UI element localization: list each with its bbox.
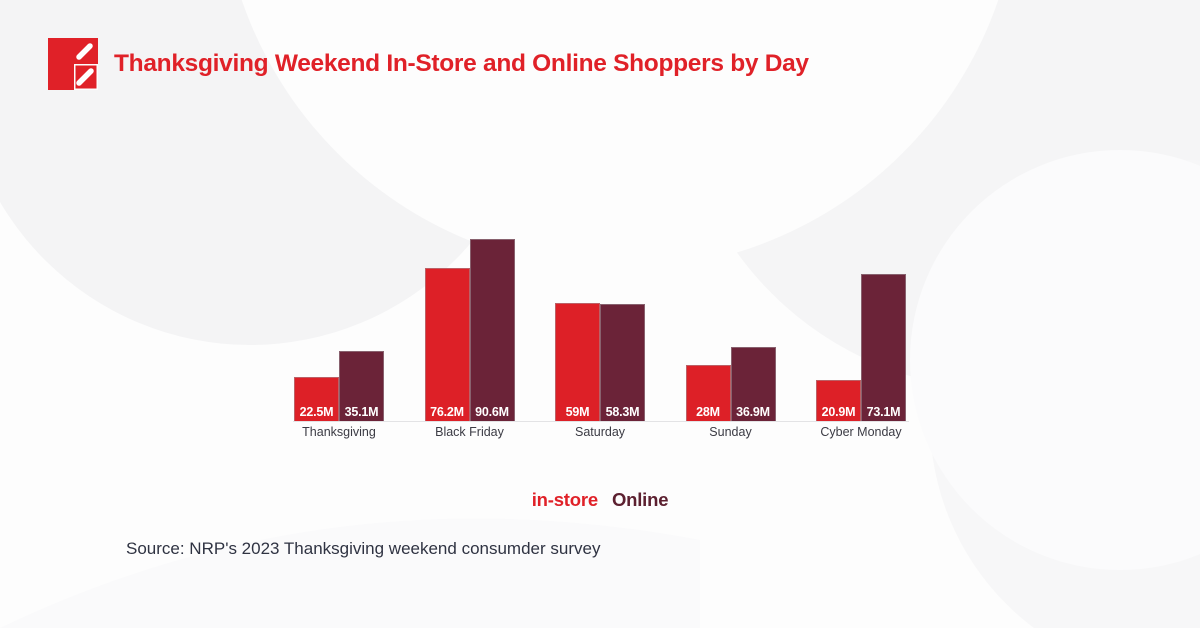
bar-group: 59M58.3M xyxy=(554,230,646,422)
legend-item-online[interactable]: Online xyxy=(612,489,668,511)
x-axis-label: Sunday xyxy=(685,425,777,439)
bar-in-store[interactable]: 22.5M xyxy=(294,377,339,422)
bar-value-label: 90.6M xyxy=(471,405,514,419)
x-axis-label: Cyber Monday xyxy=(815,425,907,439)
bar-group: 20.9M73.1M xyxy=(815,230,907,422)
pen-square-logo-icon xyxy=(48,38,98,90)
bar-value-label: 73.1M xyxy=(862,405,905,419)
bar-value-label: 28M xyxy=(687,405,730,419)
bar-group: 28M36.9M xyxy=(685,230,777,422)
bar-value-label: 59M xyxy=(556,405,599,419)
bar-in-store[interactable]: 59M xyxy=(555,303,600,422)
bar-online[interactable]: 58.3M xyxy=(600,304,645,422)
bar-online[interactable]: 36.9M xyxy=(731,347,776,422)
bar-value-label: 22.5M xyxy=(295,405,338,419)
x-axis-label: Saturday xyxy=(554,425,646,439)
source-note: Source: NRP's 2023 Thanksgiving weekend … xyxy=(126,539,600,559)
x-axis-label: Thanksgiving xyxy=(293,425,385,439)
header: Thanksgiving Weekend In-Store and Online… xyxy=(48,38,809,90)
bar-in-store[interactable]: 28M xyxy=(686,365,731,422)
bar-group: 22.5M35.1M xyxy=(293,230,385,422)
legend-item-in-store[interactable]: in-store xyxy=(532,489,598,511)
bar-online[interactable]: 35.1M xyxy=(339,351,384,422)
bar-group: 76.2M90.6M xyxy=(424,230,516,422)
bar-value-label: 58.3M xyxy=(601,405,644,419)
bar-value-label: 36.9M xyxy=(732,405,775,419)
x-axis-labels: ThanksgivingBlack FridaySaturdaySundayCy… xyxy=(293,425,907,439)
chart-legend: in-storeOnline xyxy=(0,489,1200,511)
bar-in-store[interactable]: 76.2M xyxy=(425,268,470,422)
page-title: Thanksgiving Weekend In-Store and Online… xyxy=(114,50,809,78)
bar-in-store[interactable]: 20.9M xyxy=(816,380,861,422)
bar-online[interactable]: 73.1M xyxy=(861,274,906,422)
bar-value-label: 76.2M xyxy=(426,405,469,419)
bar-value-label: 35.1M xyxy=(340,405,383,419)
bar-chart: 22.5M35.1M76.2M90.6M59M58.3M28M36.9M20.9… xyxy=(0,0,1200,628)
x-axis-line xyxy=(293,421,909,422)
plot-area: 22.5M35.1M76.2M90.6M59M58.3M28M36.9M20.9… xyxy=(293,230,907,422)
bar-value-label: 20.9M xyxy=(817,405,860,419)
bar-online[interactable]: 90.6M xyxy=(470,239,515,422)
x-axis-label: Black Friday xyxy=(424,425,516,439)
